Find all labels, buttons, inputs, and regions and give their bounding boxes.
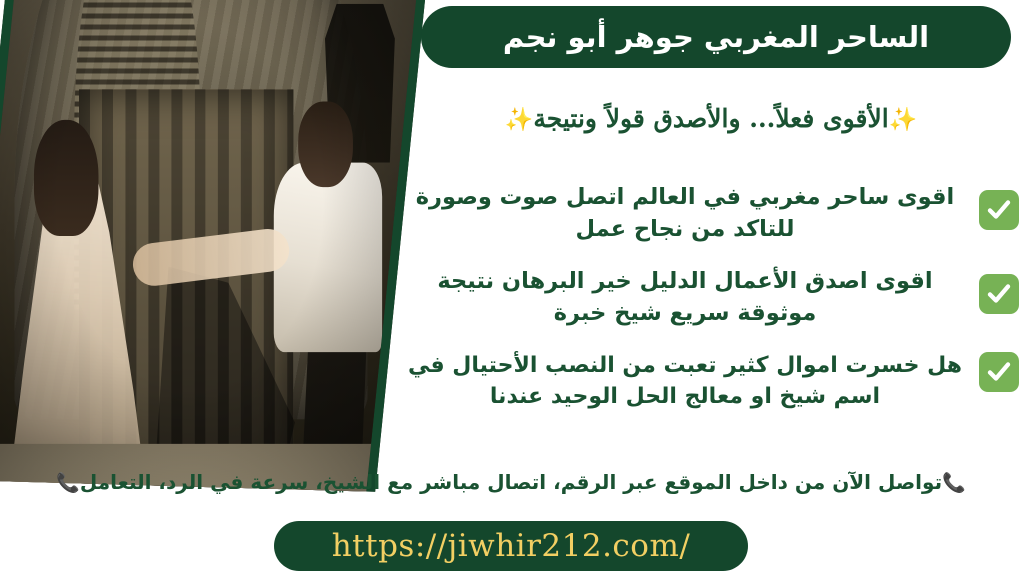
contact-text: تواصل الآن من داخل الموقع عبر الرقم، اتص… [81,470,943,494]
list-item: اقوى اصدق الأعمال الدليل خير البرهان نتي… [404,264,1020,330]
page-title: الساحر المغربي جوهر أبو نجم [422,6,1012,68]
list-item-label: اقوى ساحر مغربي في العالم اتصل صوت وصورة… [404,180,968,246]
feature-list: اقوى ساحر مغربي في العالم اتصل صوت وصورة… [404,180,1020,430]
page-title-text: الساحر المغربي جوهر أبو نجم [504,20,930,54]
photo-panel [0,0,427,492]
website-url-text: https://jiwhir212.com/ [333,528,692,564]
check-mark-box-icon [980,352,1020,392]
phone-icon-right: 📞 [943,472,967,494]
contact-line: 📞تواصل الآن من داخل الموقع عبر الرقم، ات… [0,470,1024,494]
sparkle-icon-right: ✨ [890,106,919,133]
subtitle-text: الأقوى فعلاً... والأصدق قولاً ونتيجة [534,104,889,133]
subtitle: ✨الأقوى فعلاً... والأصدق قولاً ونتيجة✨ [412,104,1012,133]
phone-icon-left: 📞 [57,472,81,494]
photo-image [0,0,427,492]
content-column: الساحر المغربي جوهر أبو نجم ✨الأقوى فعلا… [404,0,1024,470]
list-item-label: هل خسرت اموال كثير تعبت من النصب الأحتيا… [404,348,968,412]
list-item: هل خسرت اموال كثير تعبت من النصب الأحتيا… [404,348,1020,412]
check-mark-box-icon [980,274,1020,314]
list-item-label: اقوى اصدق الأعمال الدليل خير البرهان نتي… [404,264,968,330]
list-item: اقوى ساحر مغربي في العالم اتصل صوت وصورة… [404,180,1020,246]
check-mark-box-icon [980,190,1020,230]
website-url-button[interactable]: https://jiwhir212.com/ [275,521,749,571]
promo-banner: الساحر المغربي جوهر أبو نجم ✨الأقوى فعلا… [0,0,1024,577]
sparkle-icon-left: ✨ [506,106,535,133]
photo-vignette [0,0,427,492]
